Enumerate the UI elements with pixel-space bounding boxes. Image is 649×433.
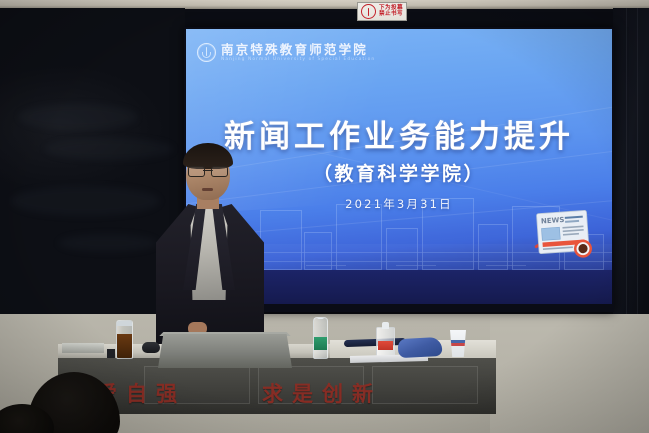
svg-text:NEWS: NEWS — [541, 216, 565, 226]
institution-name-cn: 南京特殊教育师范学院 — [221, 43, 375, 56]
small-box — [107, 349, 115, 358]
wall-right — [490, 314, 649, 433]
pen-tray — [62, 343, 104, 353]
paper-cup[interactable] — [450, 330, 466, 357]
chalkboard-right — [613, 8, 649, 316]
prohibition-seal-icon — [361, 4, 376, 19]
water-bottle[interactable] — [313, 317, 328, 359]
lectern — [158, 334, 292, 368]
institution-name-en: Nanjing Normal University of Special Edu… — [221, 57, 375, 62]
computer-mouse[interactable] — [142, 342, 160, 353]
blue-cloth[interactable] — [398, 337, 443, 358]
no-writing-warning-sign: 下为投幕 禁止书写 — [357, 2, 407, 21]
warning-line-2: 禁止书写 — [379, 12, 403, 18]
newspaper-illustration-icon: NEWS — [526, 206, 600, 264]
eyeglasses-icon — [188, 166, 228, 176]
slide-logo-lockup: 南京特殊教育师范学院 Nanjing Normal University of … — [197, 43, 375, 62]
lecture-hall-scene: 南京特殊教育师范学院 Nanjing Normal University of … — [0, 0, 649, 433]
tea-thermos[interactable] — [116, 320, 133, 359]
university-seal-icon — [197, 43, 216, 62]
presenter — [150, 146, 270, 346]
presenter-mouth — [202, 188, 213, 191]
